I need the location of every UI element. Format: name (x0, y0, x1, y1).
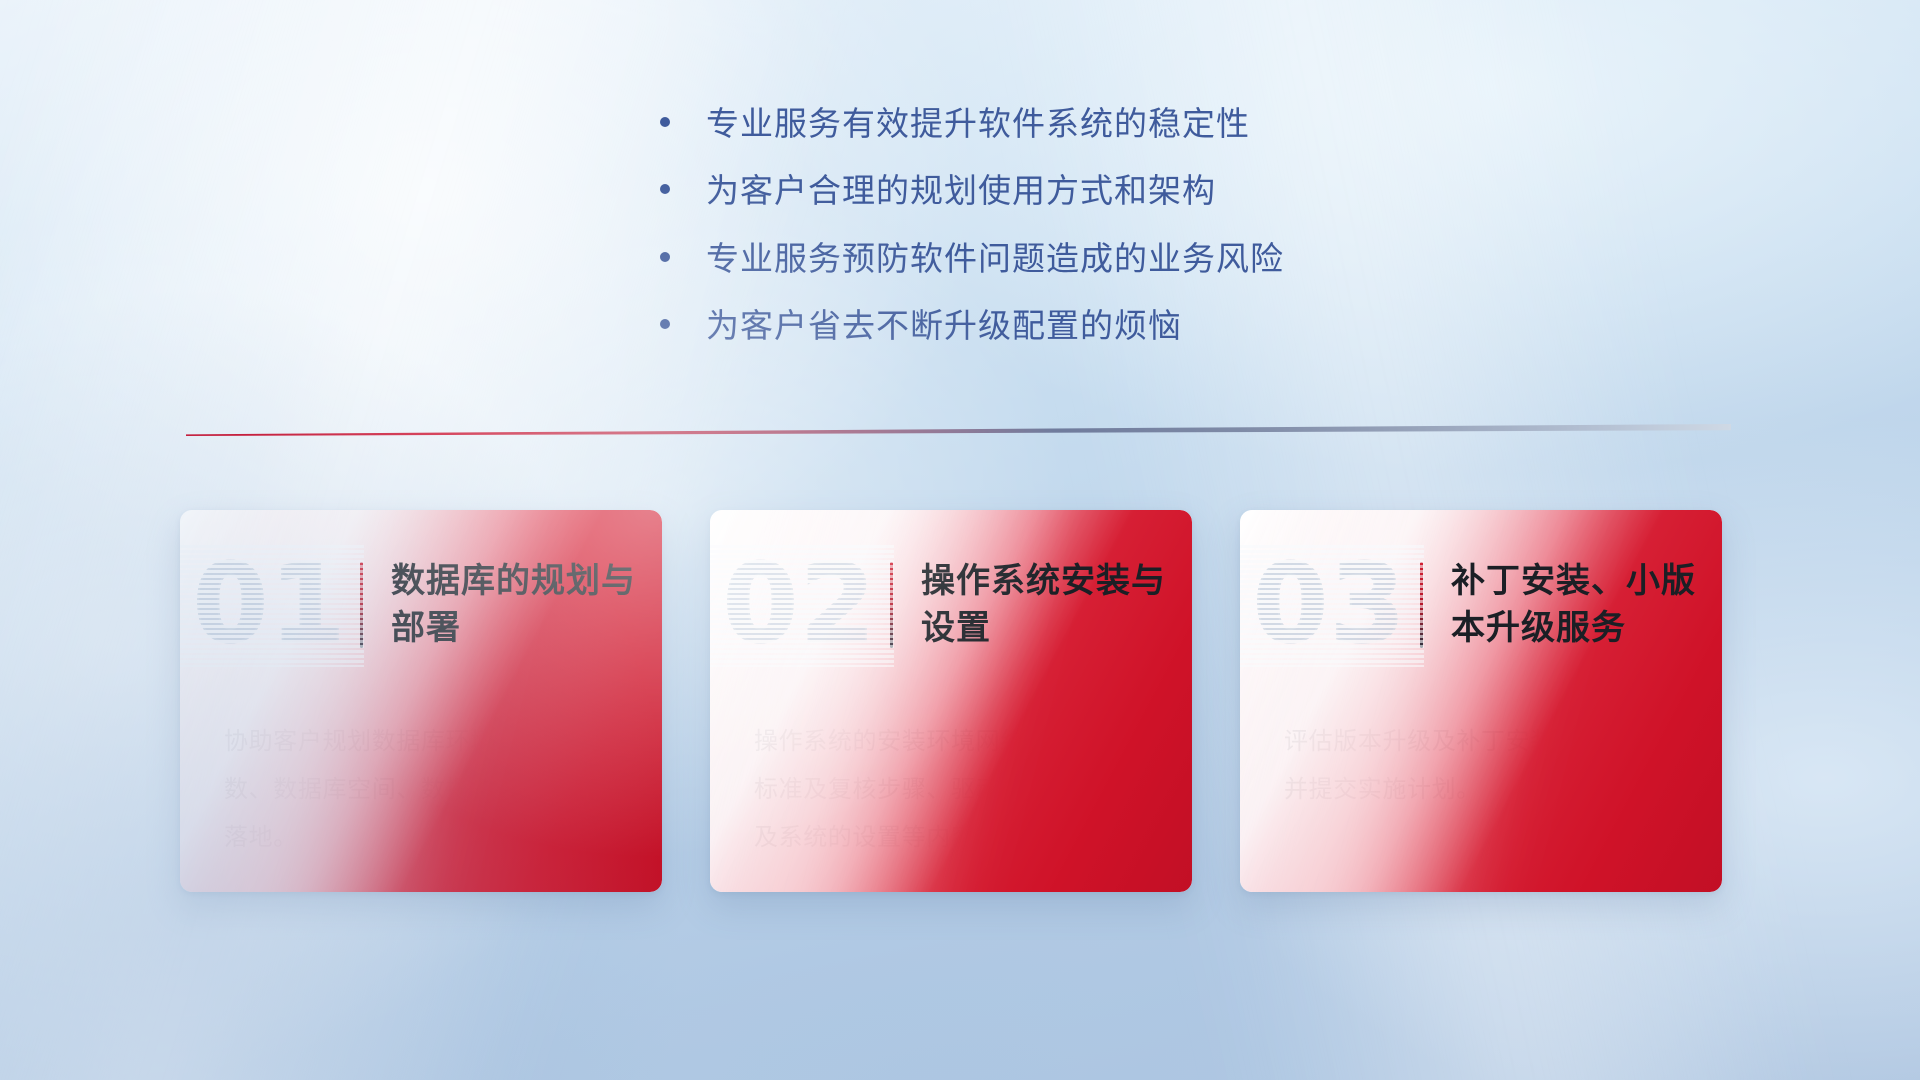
card-header: 01 数据库的规划与部署 (180, 510, 662, 674)
card-title: 补丁安装、小版本升级服务 (1451, 558, 1722, 652)
service-card-02[interactable]: 02 操作系统安装与设置 操作系统的安装环境网络调查、安装标准及复核步骤、驱动程… (710, 510, 1192, 892)
service-card-01[interactable]: 01 数据库的规划与部署 协助客户规划数据库环境、数据库参数、数据库空间、数据库… (180, 510, 662, 892)
bullet-dot-icon (660, 117, 670, 127)
card-body-text: 操作系统的安装环境网络调查、安装标准及复核步骤、驱动程序的配置以及系统的设置等内… (710, 674, 1192, 862)
card-title: 数据库的规划与部署 (391, 558, 662, 652)
list-item: 专业服务预防软件问题造成的业务风险 (660, 239, 1420, 279)
card-number-text: 02 (723, 542, 877, 667)
bullet-text: 专业服务有效提升软件系统的稳定性 (706, 104, 1250, 144)
bullet-text: 为客户省去不断升级配置的烦恼 (706, 306, 1182, 346)
list-item: 为客户省去不断升级配置的烦恼 (660, 306, 1420, 346)
card-header: 02 操作系统安装与设置 (710, 510, 1192, 674)
gradient-divider (186, 424, 1731, 436)
card-body-text: 协助客户规划数据库环境、数据库参数、数据库空间、数据库对象等部署落地。 (180, 674, 662, 862)
card-title-rule (890, 562, 893, 648)
card-title-rule (1420, 562, 1423, 648)
bullet-text: 为客户合理的规划使用方式和架构 (706, 171, 1216, 211)
bullet-list: 专业服务有效提升软件系统的稳定性 为客户合理的规划使用方式和架构 专业服务预防软… (660, 104, 1420, 373)
bullet-dot-icon (660, 319, 670, 329)
list-item: 为客户合理的规划使用方式和架构 (660, 171, 1420, 211)
card-number: 02 (710, 551, 890, 659)
bullet-text: 专业服务预防软件问题造成的业务风险 (706, 239, 1284, 279)
card-header: 03 补丁安装、小版本升级服务 (1240, 510, 1722, 674)
card-body-text: 评估版本升级及补丁安装的必要性，并提交实施计划。 (1240, 674, 1722, 814)
divider-blade-shape (186, 424, 1731, 436)
card-number-text: 01 (193, 542, 347, 667)
card-title-rule (360, 562, 363, 648)
service-card-03[interactable]: 03 补丁安装、小版本升级服务 评估版本升级及补丁安装的必要性，并提交实施计划。 (1240, 510, 1722, 892)
bullet-dot-icon (660, 184, 670, 194)
slide-canvas: 专业服务有效提升软件系统的稳定性 为客户合理的规划使用方式和架构 专业服务预防软… (0, 0, 1920, 1080)
card-number: 03 (1240, 551, 1420, 659)
card-title: 操作系统安装与设置 (921, 558, 1192, 652)
card-number: 01 (180, 551, 360, 659)
bullet-dot-icon (660, 252, 670, 262)
card-number-text: 03 (1253, 542, 1407, 667)
list-item: 专业服务有效提升软件系统的稳定性 (660, 104, 1420, 144)
